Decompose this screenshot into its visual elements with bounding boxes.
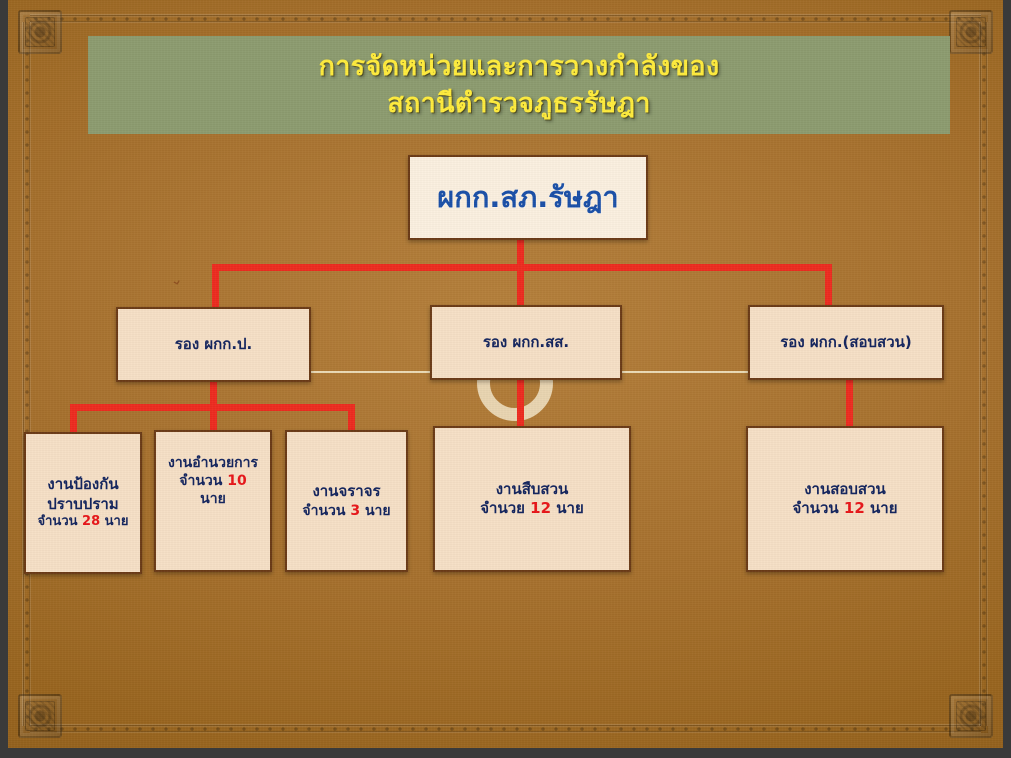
count-value: 3 [350,503,360,519]
count-suffix: นาย [365,503,391,519]
org-node-administration-unit-count-suffix: นาย [200,490,226,508]
org-node-inquiry-unit-count: จำนวน 12 นาย [793,499,898,519]
wire-root-drop [517,240,524,268]
org-node-deputy-investigation[interactable]: รอง ผกก.สส. [430,305,622,380]
pen-mark: ⌄ [168,270,189,290]
frame-corner-ornament-bottom-right [949,694,993,738]
frame-right-border [979,22,989,726]
org-node-inquiry-unit[interactable]: งานสอบสวน จำนวน 12 นาย [746,426,944,572]
wire-to-pok-sw [825,264,832,306]
count-prefix: จำนวน [302,503,345,519]
org-node-investigation-unit-line1: งานสืบสวน [496,480,569,500]
wire-level2-bus [212,264,832,271]
wire-to-case [846,380,853,428]
org-node-administration-unit[interactable]: งานอำนวยการ จำนวน 10 นาย [154,430,272,572]
org-node-traffic-unit[interactable]: งานจราจร จำนวน 3 นาย [285,430,408,572]
org-node-deputy-inquiry-label: รอง ผกก.(สอบสวน) [780,333,912,353]
wire-to-prevent [70,404,77,433]
count-prefix: จำนวน [38,514,78,529]
title-line-2: สถานีตำรวจภูธรรัษฎา [387,88,651,119]
screen: การจัดหน่วยและการวางกำลังของ สถานีตำรวจภ… [0,0,1011,758]
org-node-prevention-unit-count: จำนวน 28 นาย [38,514,129,531]
org-node-commander[interactable]: ผกก.สภ.รัษฎา [408,155,648,240]
wire-to-pok-p [212,264,219,308]
title-line-1: การจัดหน่วยและการวางกำลังของ [319,51,720,82]
wire-level3-bus-left [70,404,355,411]
count-value: 12 [530,499,551,517]
hairline-left [311,371,431,373]
frame-bottom-border [30,724,981,734]
org-node-deputy-prevention-label: รอง ผกก.ป. [175,335,252,355]
org-node-traffic-unit-line1: งานจราจร [312,482,380,502]
count-value: 10 [227,473,246,489]
org-node-traffic-unit-count: จำนวน 3 นาย [302,502,390,520]
count-value: 12 [844,499,865,517]
count-prefix: จำนวน [793,499,839,517]
slide-canvas: การจัดหน่วยและการวางกำลังของ สถานีตำรวจภ… [8,0,1003,748]
hairline-right [621,371,749,373]
frame-corner-ornament-top-right [949,10,993,54]
count-suffix: นาย [105,514,129,529]
org-node-commander-label: ผกก.สภ.รัษฎา [437,179,618,217]
count-prefix: จำนวน [179,473,222,489]
count-suffix: นาย [556,499,583,517]
org-node-inquiry-unit-line1: งานสอบสวน [804,480,886,500]
org-node-deputy-investigation-label: รอง ผกก.สส. [483,333,569,353]
org-node-administration-unit-count: จำนวน 10 [179,472,246,490]
count-suffix: นาย [870,499,897,517]
frame-top-border [30,14,981,24]
org-node-investigation-unit-count: จำนวย 12 นาย [480,499,584,519]
wire-to-investigation [517,380,524,428]
wire-to-admin [210,404,217,431]
wire-pok-p-drop [210,382,217,410]
org-node-deputy-inquiry[interactable]: รอง ผกก.(สอบสวน) [748,305,944,380]
frame-corner-ornament-top-left [18,10,62,54]
title-banner: การจัดหน่วยและการวางกำลังของ สถานีตำรวจภ… [88,36,950,134]
frame-left-border [22,22,32,726]
org-node-administration-unit-line1: งานอำนวยการ [168,454,258,472]
org-node-prevention-unit-line2: ปราบปราม [47,495,118,515]
frame-corner-ornament-bottom-left [18,694,62,738]
wire-to-traffic [348,404,355,431]
org-node-prevention-unit[interactable]: งานป้องกัน ปราบปราม จำนวน 28 นาย [24,432,142,574]
org-node-prevention-unit-line1: งานป้องกัน [47,475,118,495]
org-node-deputy-prevention[interactable]: รอง ผกก.ป. [116,307,311,382]
count-value: 28 [82,514,100,529]
wire-to-pok-ss [517,264,524,306]
count-prefix: จำนวย [480,499,525,517]
org-node-investigation-unit[interactable]: งานสืบสวน จำนวย 12 นาย [433,426,631,572]
